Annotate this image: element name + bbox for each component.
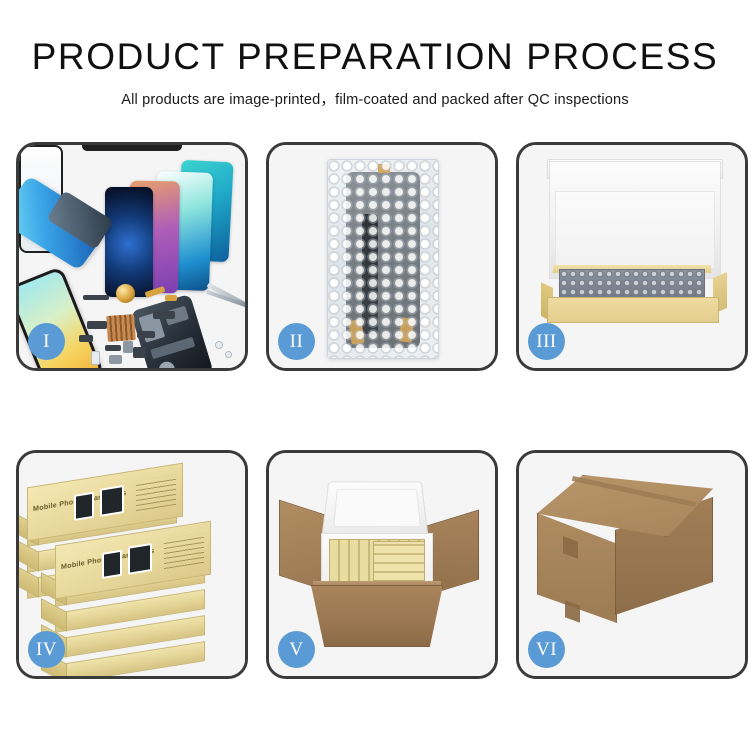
vibration-motor-icon xyxy=(116,284,135,303)
inner-boxes-right xyxy=(373,541,425,581)
foam-sheet xyxy=(555,191,715,269)
part-button xyxy=(109,355,122,364)
box-print-screen-b xyxy=(128,543,152,575)
panel-step-6: VI xyxy=(516,450,748,679)
part-screw-b xyxy=(225,351,232,358)
page-subtitle: All products are image-printed，film-coat… xyxy=(0,88,750,109)
panel-step-5: V xyxy=(266,450,498,679)
part-flex-cable-2 xyxy=(165,295,177,301)
box-front-panel xyxy=(547,297,719,323)
box-print-screen-b xyxy=(100,485,124,517)
part-speaker xyxy=(123,341,133,353)
bubble-wrap-bag xyxy=(327,159,439,359)
carton-body xyxy=(311,585,443,647)
bubble-texture-overlay xyxy=(328,160,438,358)
part-antenna xyxy=(83,295,109,300)
part-connector xyxy=(137,331,155,338)
step-badge: VI xyxy=(528,631,565,668)
step-badge: II xyxy=(278,323,315,360)
connector-board-icon xyxy=(106,314,136,342)
step-badge: V xyxy=(278,631,315,668)
page-title: PRODUCT PREPARATION PROCESS xyxy=(0,38,750,75)
foam-lid xyxy=(321,482,429,539)
step-badge: IV xyxy=(28,631,65,668)
panel-step-4: Mobile Phone Spare Parts xyxy=(16,450,248,679)
panel-step-2: II xyxy=(266,142,498,371)
box-print-spec-lines xyxy=(136,475,176,511)
part-shield xyxy=(79,335,93,342)
process-step-grid: I II xyxy=(16,142,734,688)
part-bracket xyxy=(87,321,107,329)
part-sim-tray xyxy=(91,351,100,365)
part-camera xyxy=(133,347,145,358)
part-cable-short xyxy=(153,311,175,319)
header: PRODUCT PREPARATION PROCESS All products… xyxy=(0,38,750,109)
panel-step-1: I xyxy=(16,142,248,371)
panel-step-3: III xyxy=(516,142,748,371)
product-preparation-infographic: PRODUCT PREPARATION PROCESS All products… xyxy=(0,0,750,750)
part-screw-a xyxy=(215,341,223,349)
phone-dark-screen xyxy=(105,187,153,297)
step-badge: I xyxy=(28,323,65,360)
box-print-screen-a xyxy=(74,492,94,521)
box-print-spec-lines xyxy=(164,533,204,569)
step-badge: III xyxy=(528,323,565,360)
tweezers-icon xyxy=(207,282,248,308)
part-clip xyxy=(105,345,121,351)
box-print-screen-a xyxy=(102,550,122,579)
